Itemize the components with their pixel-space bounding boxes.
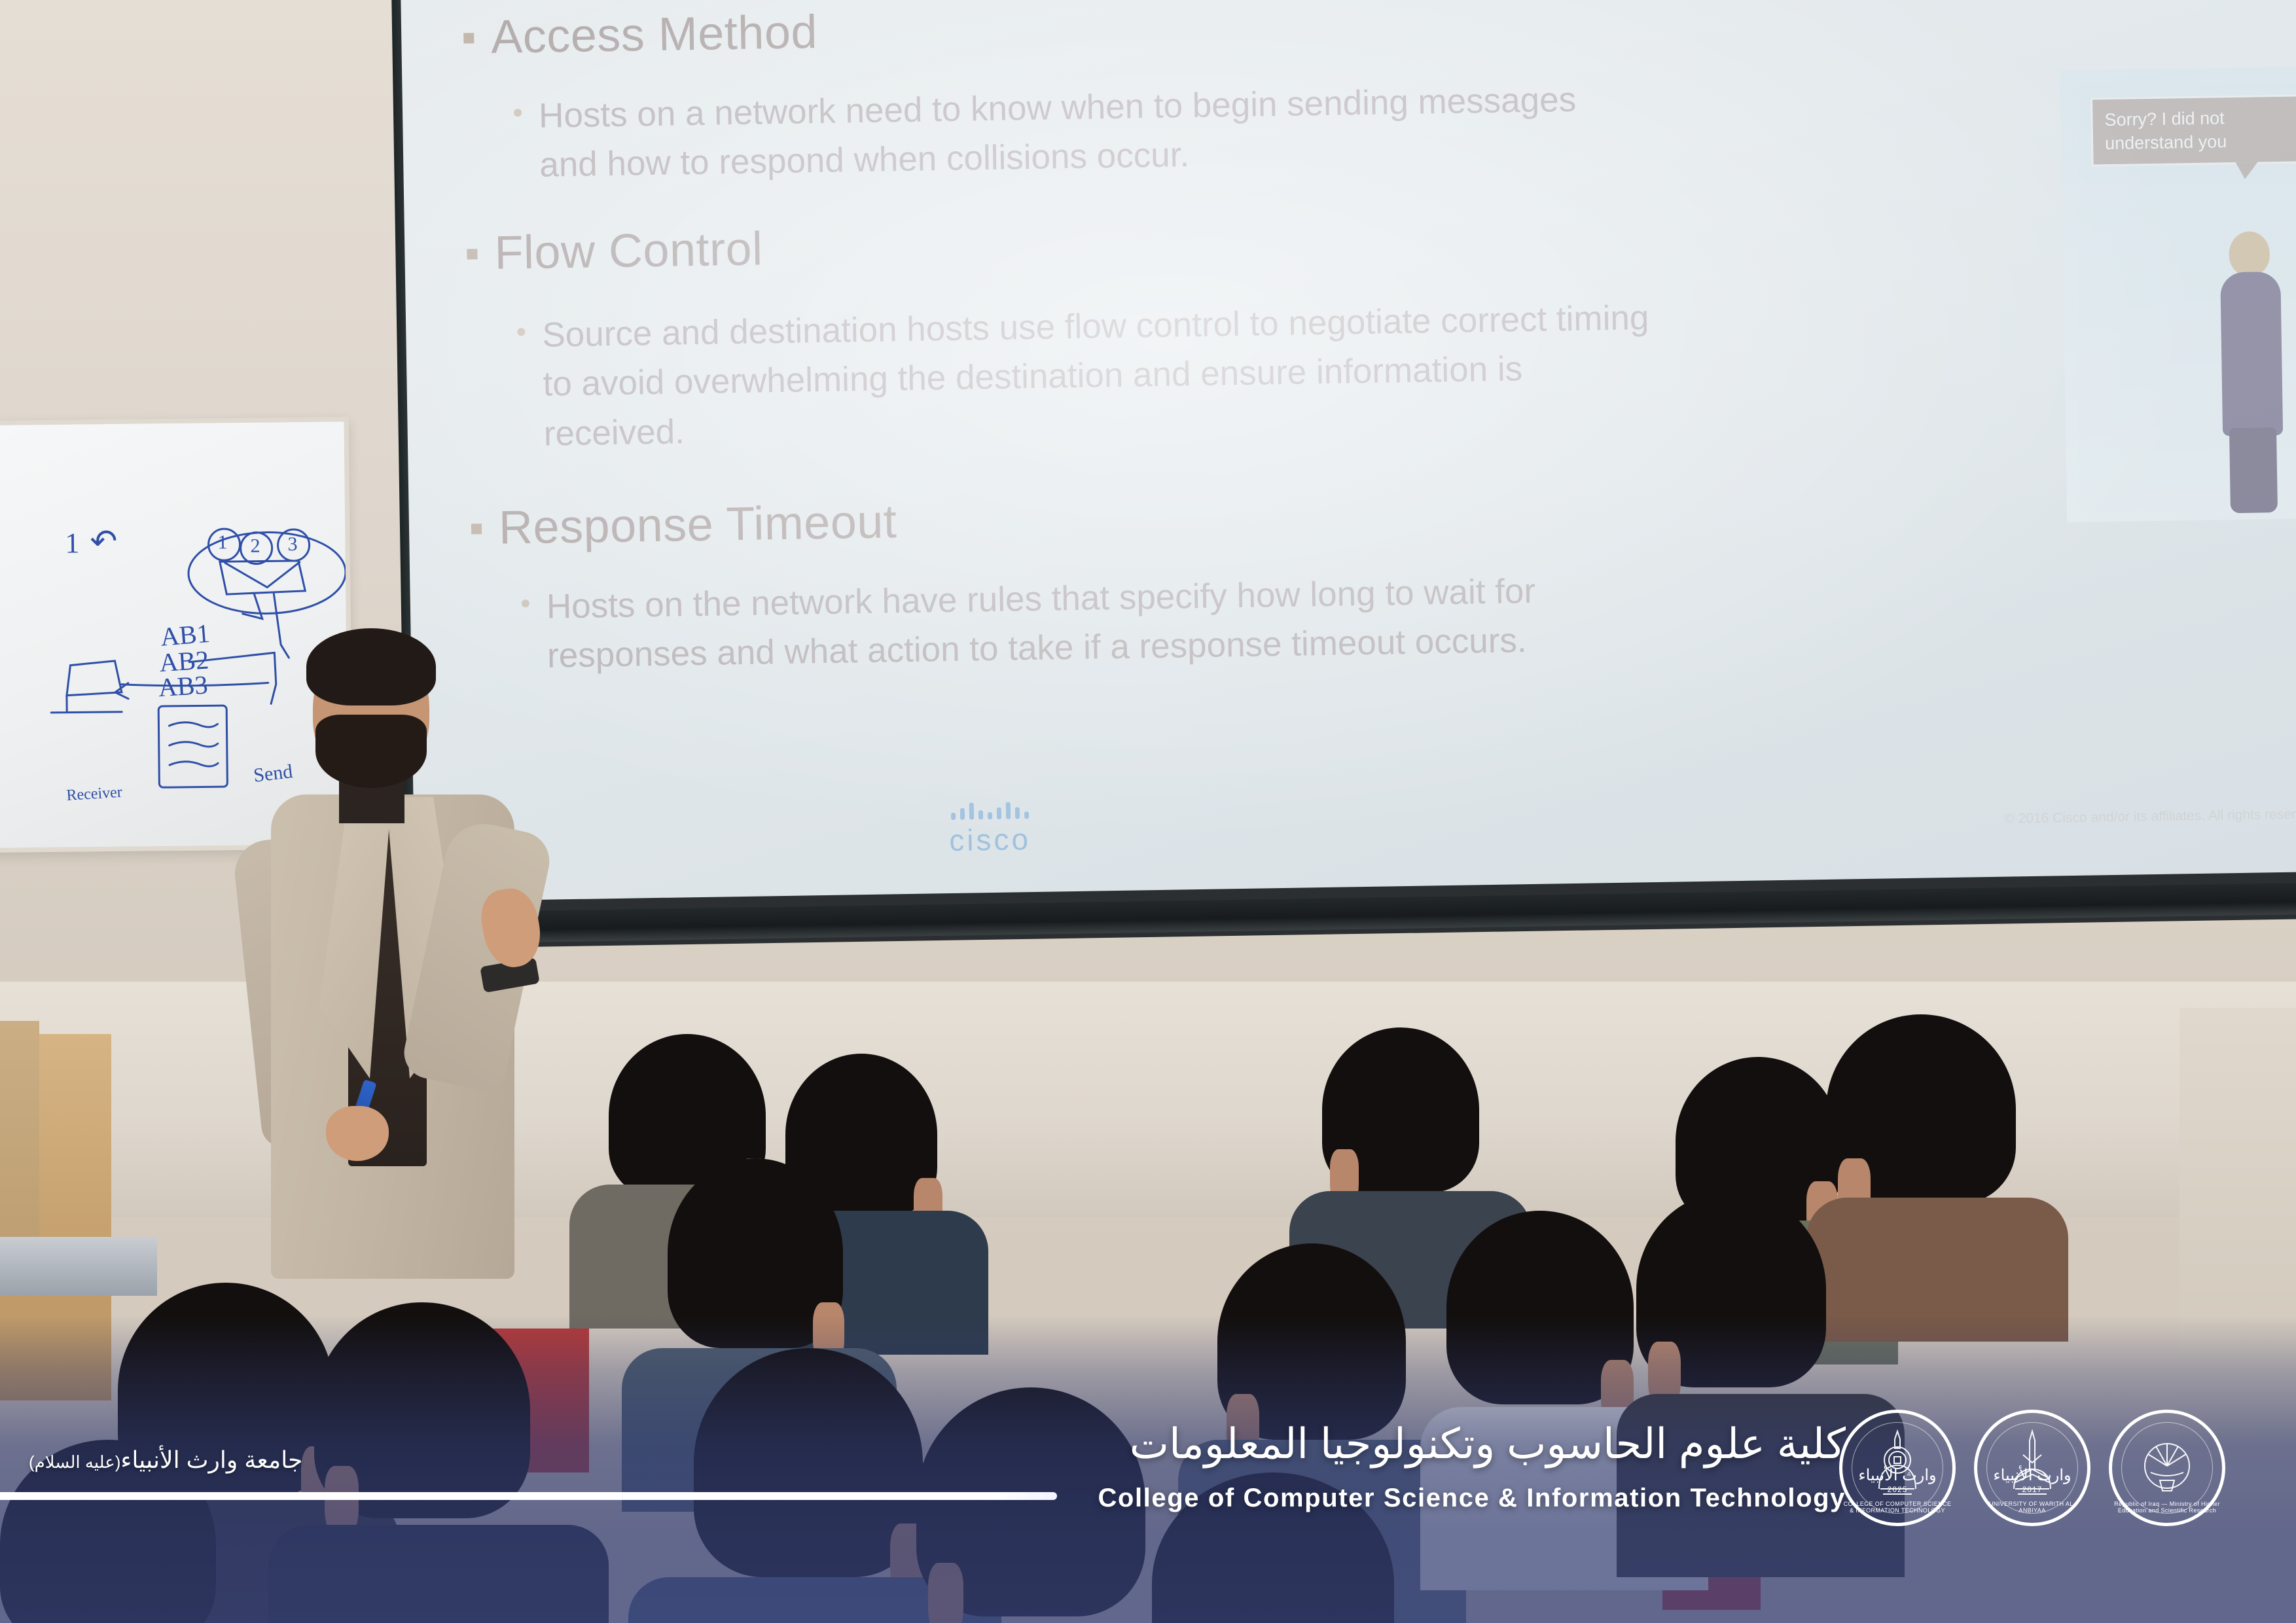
college-name-english: College of Computer Science & Informatio… <box>1098 1484 1846 1513</box>
banner-divider-rule <box>0 1492 1057 1500</box>
lecture-photo: Access Method Hosts on a network need to… <box>0 0 2296 1623</box>
college-name-arabic: كلية علوم الحاسوب وتكنولوجيا المعلومات <box>1130 1419 1846 1469</box>
ministry-logo-icon: Republic of Iraq — Ministry of Higher Ed… <box>2109 1410 2225 1526</box>
university-name-arabic: جامعة وارث الأنبياء(عليه السلام) <box>29 1446 302 1474</box>
logo-group: وارث الأنبياء 2025 COLLEGE OF COMPUTER S… <box>1839 1410 2225 1526</box>
torch-fan-icon <box>2131 1432 2203 1504</box>
university-logo-icon: وارث الأنبياء 2017 UNIVERSITY OF WARITH … <box>1974 1410 2090 1526</box>
college-logo-icon: وارث الأنبياء 2025 COLLEGE OF COMPUTER S… <box>1839 1410 1956 1526</box>
footer-banner: جامعة وارث الأنبياء(عليه السلام) كلية عل… <box>0 0 2296 1623</box>
